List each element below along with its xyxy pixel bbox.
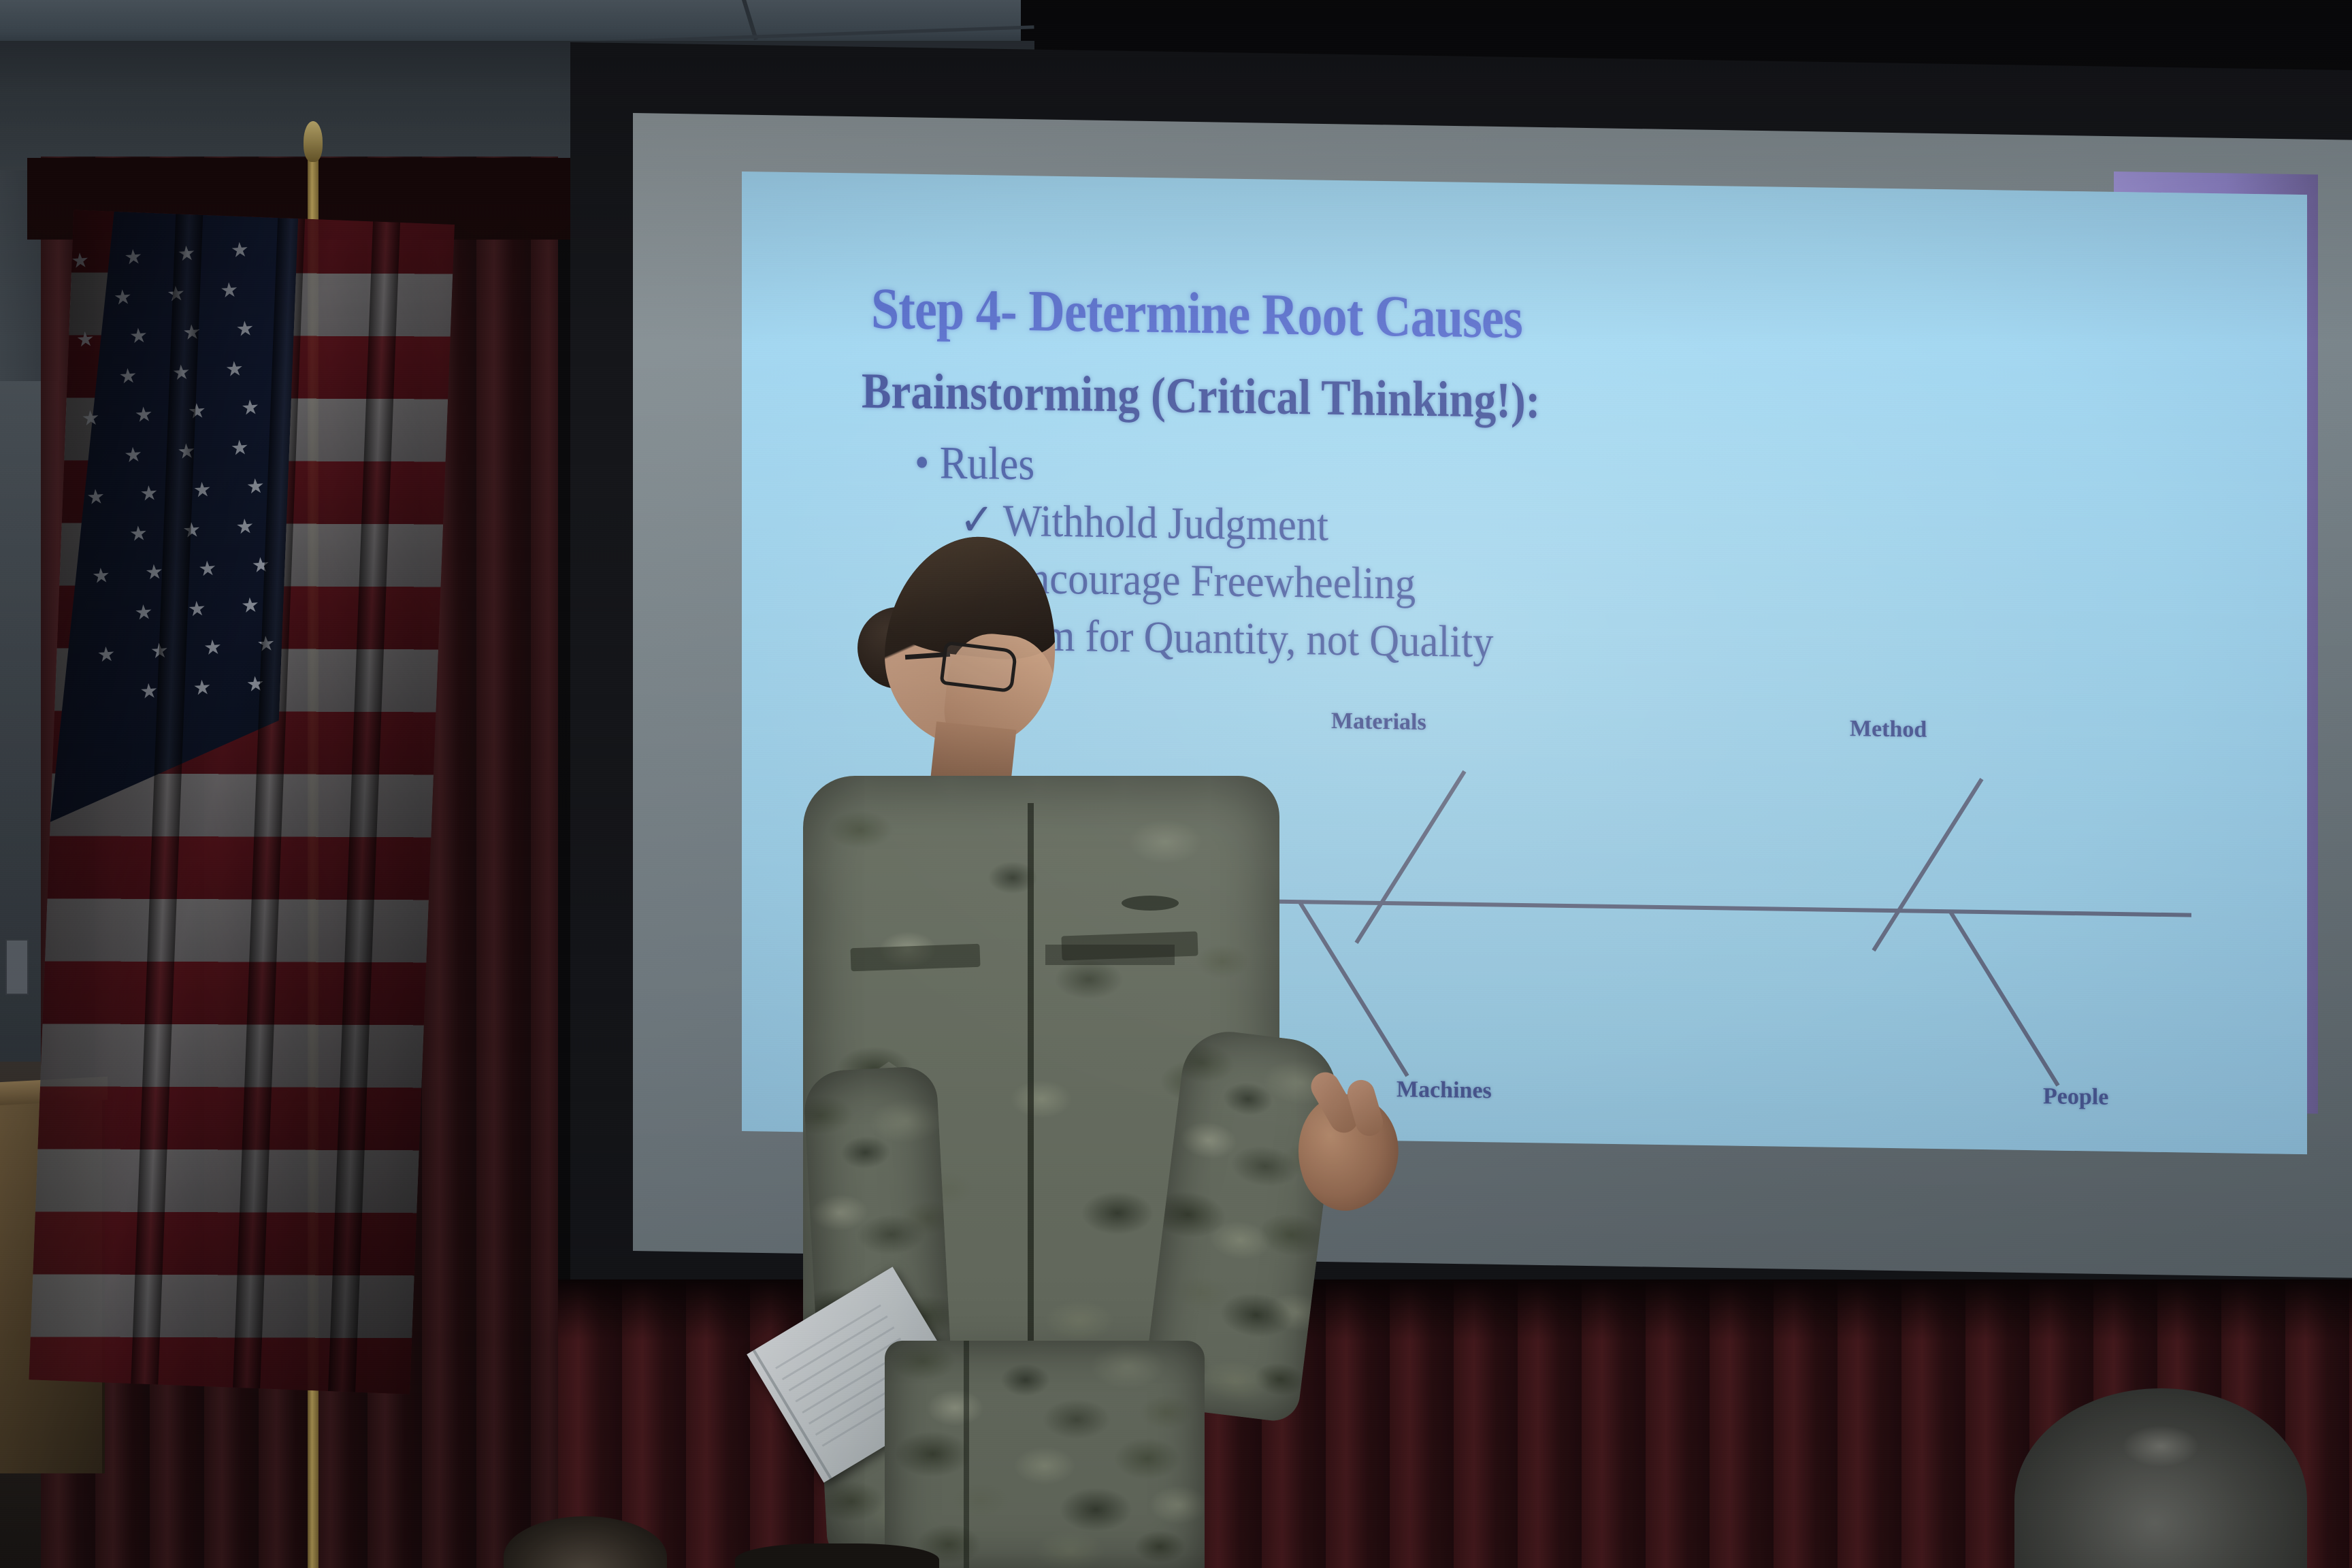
- audience-member-shoulder: [735, 1543, 939, 1568]
- bullet-marker: •: [915, 436, 929, 488]
- slide-subtitle: Brainstorming (Critical Thinking!):: [862, 363, 1540, 431]
- presentation-photo-scene: ★ ★ ★ ★ ★ ★ ★ ★ ★ ★ ★ ★ ★ ★ ★ ★ ★ ★ ★ ★ …: [0, 0, 2352, 1568]
- audience-member-hair-highlight: [2123, 1426, 2198, 1467]
- abu-trousers: [885, 1341, 1205, 1568]
- head: [875, 528, 1066, 755]
- slide-title: Step 4- Determine Root Causes: [871, 274, 1522, 352]
- fishbone-bone-people: [1948, 910, 2059, 1087]
- slide-bullet-rules: • Rules: [915, 436, 1034, 491]
- wall-outlet: [5, 939, 29, 995]
- presenter: [803, 531, 1484, 1568]
- jacket-placket: [1028, 803, 1034, 1368]
- aeronautical-badge-icon: [1122, 896, 1179, 911]
- trouser-seam: [964, 1341, 969, 1568]
- flag-shading: [29, 210, 455, 1394]
- us-flag: ★ ★ ★ ★ ★ ★ ★ ★ ★ ★ ★ ★ ★ ★ ★ ★ ★ ★ ★ ★ …: [29, 210, 455, 1394]
- fishbone-label-people: People: [2043, 1083, 2108, 1110]
- glasses-icon: [940, 641, 1018, 693]
- fishbone-label-method: Method: [1850, 716, 1927, 743]
- flagpole-finial-icon: [304, 121, 323, 162]
- fishbone-bone-method: [1872, 778, 1983, 951]
- chest-pocket-left: [850, 944, 980, 972]
- name-tape: [1045, 945, 1175, 965]
- bullet-text: Rules: [940, 436, 1034, 489]
